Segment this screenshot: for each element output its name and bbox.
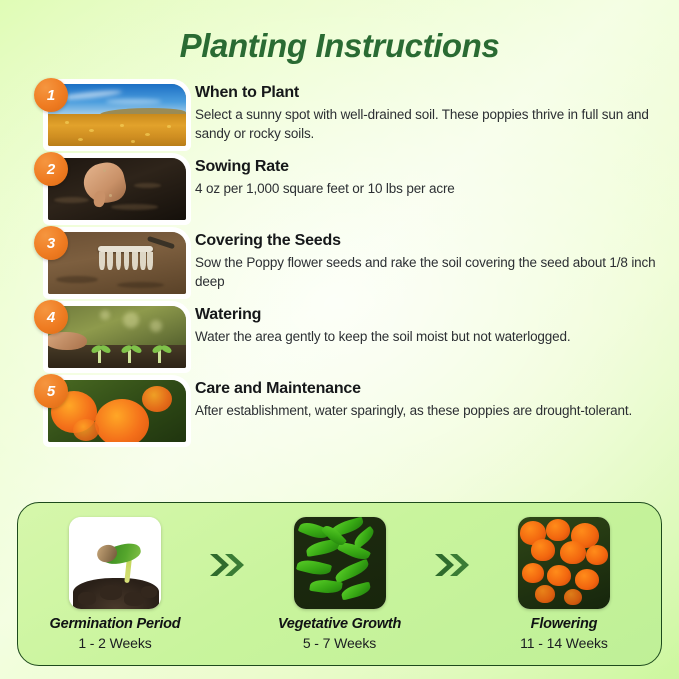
- orange-poppy-flowers-photo: [48, 380, 186, 442]
- orange-poppy-bloom-photo: [518, 517, 610, 609]
- step-text: Watering Water the area gently to keep t…: [186, 300, 665, 346]
- sprouting-seed-photo: [69, 517, 161, 609]
- step-text: Care and Maintenance After establishment…: [186, 374, 665, 420]
- step-title: Covering the Seeds: [195, 231, 665, 251]
- step-text: Sowing Rate 4 oz per 1,000 square feet o…: [186, 152, 665, 198]
- step-thumbnail-wrap: 1: [34, 78, 186, 146]
- rake-on-soil-photo: [48, 232, 186, 294]
- timeline-stage: Germination Period 1 - 2 Weeks: [40, 517, 190, 651]
- timeline-stage-name: Vegetative Growth: [265, 616, 415, 632]
- step-text: When to Plant Select a sunny spot with w…: [186, 78, 665, 143]
- green-foliage-photo: [294, 517, 386, 609]
- step-item: 5 Care and Maintenance After establishme…: [34, 374, 665, 442]
- step-text: Covering the Seeds Sow the Poppy flower …: [186, 226, 665, 291]
- steps-list: 1 When to Plant Select a sunny spot with…: [0, 78, 679, 442]
- timeline-stage-duration: 5 - 7 Weeks: [265, 635, 415, 651]
- step-item: 2 Sowing Rate 4 oz per 1,000 square feet…: [34, 152, 665, 220]
- timeline-stage-name: Flowering: [489, 616, 639, 632]
- double-chevron-right-icon: [205, 550, 249, 580]
- growth-timeline-panel: Germination Period 1 - 2 Weeks Vegetativ…: [17, 502, 662, 666]
- step-thumbnail-wrap: 2: [34, 152, 186, 220]
- step-title: Care and Maintenance: [195, 379, 665, 399]
- step-item: 1 When to Plant Select a sunny spot with…: [34, 78, 665, 146]
- timeline-stage-name: Germination Period: [40, 616, 190, 632]
- step-thumbnail-wrap: 5: [34, 374, 186, 442]
- poppy-field-landscape-photo: [48, 84, 186, 146]
- step-description: Sow the Poppy flower seeds and rake the …: [195, 254, 665, 291]
- watering-seedlings-photo: [48, 306, 186, 368]
- step-thumbnail-wrap: 4: [34, 300, 186, 368]
- page-title: Planting Instructions: [0, 0, 679, 64]
- step-title: Watering: [195, 305, 665, 325]
- timeline-stage-duration: 11 - 14 Weeks: [489, 635, 639, 651]
- step-description: Select a sunny spot with well-drained so…: [195, 106, 665, 143]
- step-title: Sowing Rate: [195, 157, 665, 177]
- double-chevron-right-icon: [430, 550, 474, 580]
- timeline-stage-duration: 1 - 2 Weeks: [40, 635, 190, 651]
- step-thumbnail-wrap: 3: [34, 226, 186, 294]
- hand-sowing-seeds-photo: [48, 158, 186, 220]
- step-description: 4 oz per 1,000 square feet or 10 lbs per…: [195, 180, 665, 198]
- step-item: 4 Watering Water the area gen: [34, 300, 665, 368]
- step-description: Water the area gently to keep the soil m…: [195, 328, 665, 346]
- step-title: When to Plant: [195, 83, 665, 103]
- step-item: 3 Covering the Seeds Sow the Poppy flowe…: [34, 226, 665, 294]
- timeline-stage: Flowering 11 - 14 Weeks: [489, 517, 639, 651]
- step-description: After establishment, water sparingly, as…: [195, 402, 665, 420]
- timeline-stage: Vegetative Growth 5 - 7 Weeks: [265, 517, 415, 651]
